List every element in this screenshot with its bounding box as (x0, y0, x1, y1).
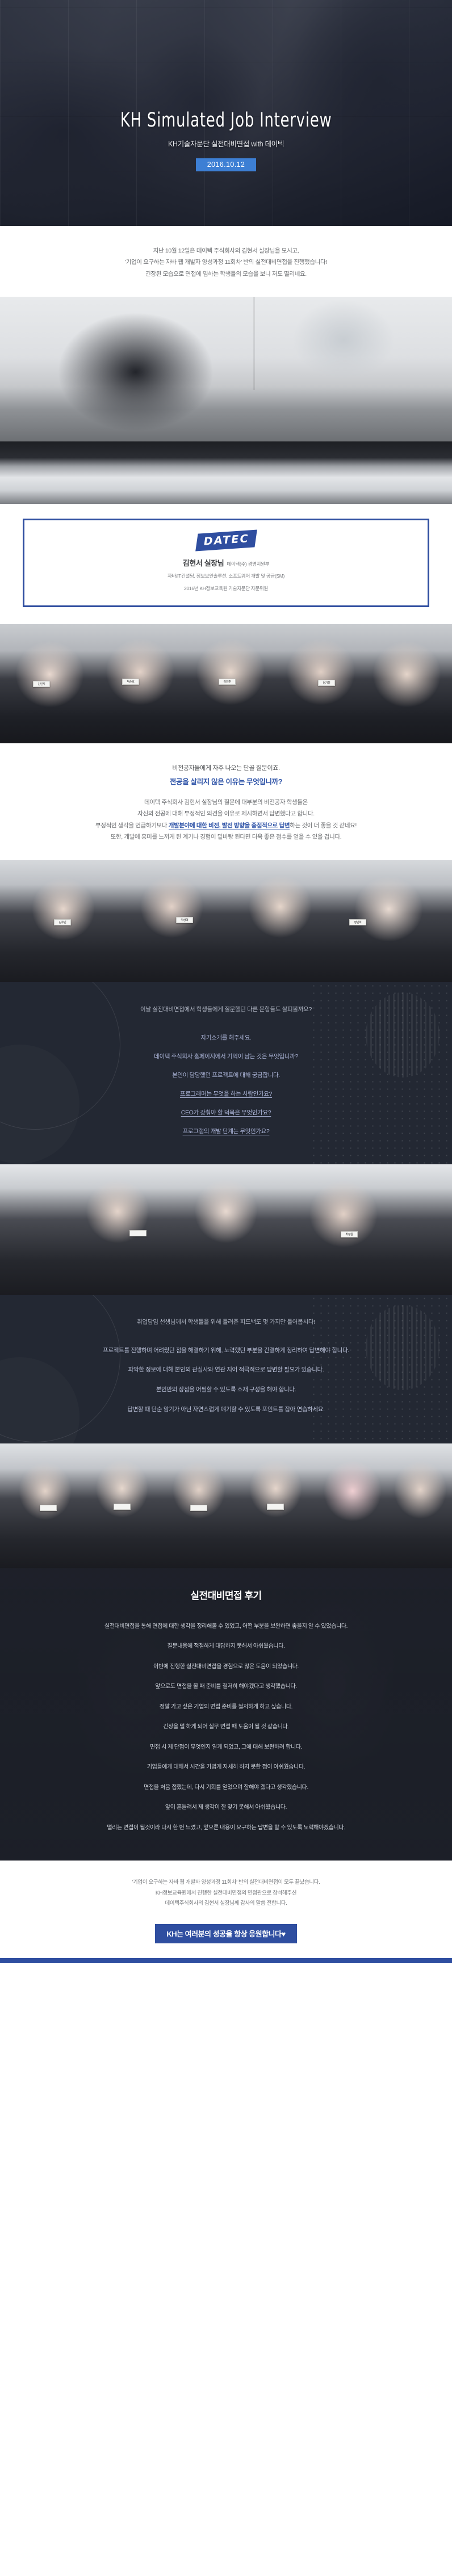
feedback-list: 프로젝트를 진행하며 어려웠던 점을 해결하기 위해, 노력했던 부분을 간결하… (19, 1341, 433, 1420)
review-item: 떨리는 면접이 될것이라 다시 한 번 느꼈고, 앞으론 내용이 요구하는 답변… (19, 1818, 433, 1838)
major-question-block: 비전공자들에게 자주 나오는 단골 질문이죠. 전공을 살리지 않은 이유는 무… (0, 743, 452, 860)
intro-line-1: 지난 10월 12일은 데이텍 주식회사의 김현서 실장님을 모시고, (23, 245, 429, 256)
question-item: 프로그램의 개발 단계는 무엇인가요? (19, 1122, 433, 1140)
company-business-desc: 자바/IT컨설팅, 정보보안솔루션, 소프트웨어 개발 및 공급(SM) (34, 572, 418, 580)
name-tag (267, 1504, 284, 1510)
review-item: 면접을 처음 접했는데, 다시 기회를 얻었으며 잘해야 겠다고 생각했습니다. (19, 1778, 433, 1798)
intro-line-3: 긴장된 모습으로 면접에 임하는 학생들의 모습을 보니 저도 떨리네요. (23, 268, 429, 280)
photo-student-group-3: 최정원 (0, 1164, 452, 1295)
name-tag: 박준호 (122, 679, 139, 685)
review-item: 이번에 진행한 실전대비면접을 경험으로 많은 도움이 되었습니다. (19, 1657, 433, 1677)
questions-heading: 이날 실전대비면접에서 학생들에게 질문했던 다른 문항들도 살펴볼까요? (19, 1005, 433, 1013)
interviewer-name-text: 김현서 실장님 (183, 559, 224, 567)
question-item: 데이텍 주식회사 홈페이지에서 기억이 남는 것은 무엇입니까? (19, 1047, 433, 1066)
intro-line-2: '기업이 요구하는 자바 웹 개발자 양성과정 11회차' 반의 실전대비면접을… (23, 256, 429, 268)
major-body-3-post: 하는 것이 더 좋을 것 같네요! (290, 822, 357, 829)
footer-cta-banner: KH는 여러분의 성공을 항상 응원합니다♥ (155, 1924, 296, 1943)
page-title: KH Simulated Job Interview (120, 109, 332, 132)
questions-section: 이날 실전대비면접에서 학생들에게 질문했던 다른 문항들도 살펴볼까요? 자기… (0, 982, 452, 1164)
footer-line-1: '기업이 요구하는 자바 웹 개발자 양성과정 11회차' 반의 실전대비면접이… (19, 1878, 433, 1888)
interview-event-page: KH Simulated Job Interview KH기술자문단 실전대비면… (0, 0, 452, 1963)
event-date-badge: 2016.10.12 (196, 158, 257, 171)
review-section: 실전대비면접 후기 실전대비면접을 통해 면접에 대한 생각을 정리해볼 수 있… (0, 1568, 452, 1861)
photo-student-group-1: 김민지 박준호 이강훈 정기철 (0, 624, 452, 743)
photo-student-group-2: 김수빈 박상혁 정민희 (0, 860, 452, 982)
name-tag: 박상혁 (176, 917, 193, 923)
datec-logo: DATEC (195, 530, 257, 552)
name-tag: 정민희 (349, 919, 366, 925)
name-tag (190, 1505, 207, 1511)
major-body-3-highlight: 개발분야에 대한 비전, 발전 방향을 중점적으로 답변 (169, 822, 290, 830)
review-item: 질문내용에 적절하게 대답하지 못해서 아쉬웠습니다. (19, 1636, 433, 1657)
major-body-3: 부정적인 생각을 언급하기보다 개발분야에 대한 비전, 발전 방향을 중점적으… (23, 820, 429, 831)
footer-section: '기업이 요구하는 자바 웹 개발자 양성과정 11회차' 반의 실전대비면접이… (0, 1861, 452, 1958)
name-tag: 김수빈 (54, 919, 71, 925)
name-tag (114, 1504, 131, 1510)
name-tag (40, 1505, 57, 1511)
feedback-heading: 취업담임 선생님께서 학생들을 위해 들려준 피드백도 몇 가지만 들어봅시다! (19, 1318, 433, 1326)
feedback-item: 프로젝트를 진행하며 어려웠던 점을 해결하기 위해, 노력했던 부분을 간결하… (19, 1341, 433, 1361)
hero-subtitle: KH기술자문단 실전대비면접 with 데이텍 (168, 138, 284, 149)
major-body-2: 자신의 전공에 대해 부정적인 의견을 이유로 제시하면서 답변했다고 합니다. (23, 808, 429, 819)
review-item: 실전대비면접을 통해 면접에 대한 생각을 정리해볼 수 있었고, 어떤 부분을… (19, 1617, 433, 1637)
profile-card-section: DATEC 김현서 실장님데이텍(주) 경영지원부 자바/IT컨설팅, 정보보안… (0, 504, 452, 624)
review-item: 앞이 흔들려서 제 생각이 잘 맞기 못해서 아쉬웠습니다. (19, 1798, 433, 1818)
review-title: 실전대비면접 후기 (19, 1588, 433, 1602)
major-body-3-pre: 부정적인 생각을 언급하기보다 (95, 822, 169, 829)
interviewer-department: 데이텍(주) 경영지원부 (227, 561, 269, 567)
feedback-item: 파악한 정보에 대해 본인의 관심사와 연관 지어 적극적으로 답변할 필요가 … (19, 1360, 433, 1380)
photo-student-group-4 (0, 1443, 452, 1568)
feedback-item: 본인만의 장점을 어필할 수 있도록 소재 구성을 해야 합니다. (19, 1380, 433, 1400)
name-tag (129, 1230, 147, 1236)
question-item: 본인이 담당했던 프로젝트에 대해 궁금합니다. (19, 1066, 433, 1084)
advisor-role-desc: 2016년 KH정보교육원 기술자문단 자문위원 (34, 584, 418, 593)
major-body-4: 또한, 개발에 흥미를 느끼게 된 계기나 경험이 밑바탕 된다면 더욱 좋은 … (23, 831, 429, 843)
major-question-intro: 비전공자들에게 자주 나오는 단골 질문이죠. (172, 765, 279, 772)
review-item: 기업들에게 대해서 시간을 가볍게 자세히 하지 못한 점이 아쉬웠습니다. (19, 1757, 433, 1778)
hero-banner: KH Simulated Job Interview KH기술자문단 실전대비면… (0, 0, 452, 226)
question-item: 프로그래머는 무엇을 하는 사람인가요? (19, 1084, 433, 1103)
review-item: 정말 가고 싶은 기업의 면접 준비를 철저하게 하고 싶습니다. (19, 1697, 433, 1718)
name-tag: 정기철 (318, 680, 335, 686)
review-item: 앞으로도 면접을 볼 때 준비를 철저히 해야겠다고 생각했습니다. (19, 1677, 433, 1697)
footer-line-3: 데이텍주식회사의 김현서 실장님께 감사의 말씀 전합니다. (19, 1899, 433, 1909)
footer-line-2: KH정보교육원에서 진행한 실전대비면접의 면접관으로 참석해주신 (19, 1888, 433, 1899)
feedback-section: 취업담임 선생님께서 학생들을 위해 들려준 피드백도 몇 가지만 들어봅시다!… (0, 1295, 452, 1443)
name-tag: 이강훈 (219, 679, 236, 685)
interviewer-name: 김현서 실장님데이텍(주) 경영지원부 (34, 557, 418, 568)
question-item: CEO가 갖춰야 할 덕목은 무엇인가요? (19, 1103, 433, 1122)
photo-interview-room (0, 297, 452, 441)
major-question-lead: 비전공자들에게 자주 나오는 단골 질문이죠. 전공을 살리지 않은 이유는 무… (23, 763, 429, 789)
major-question-highlight: 전공을 살리지 않은 이유는 무엇입니까? (23, 776, 429, 789)
feedback-item: 답변할 때 단순 암기가 아닌 자연스럽게 얘기할 수 있도록 포인트를 잡아 … (19, 1400, 433, 1420)
footer-color-strip (0, 1958, 452, 1963)
question-item: 자기소개를 해주세요. (19, 1028, 433, 1047)
questions-list: 자기소개를 해주세요. 데이텍 주식회사 홈페이지에서 기억이 남는 것은 무엇… (19, 1028, 433, 1140)
name-tag: 김민지 (33, 681, 50, 687)
datec-profile-card: DATEC 김현서 실장님데이텍(주) 경영지원부 자바/IT컨설팅, 정보보안… (23, 519, 429, 607)
photo-interviewer-desk (0, 441, 452, 504)
review-item: 긴장을 덜 하게 되어 실무 면접 때 도움이 될 것 같습니다. (19, 1717, 433, 1737)
major-body-1: 데이텍 주식회사 김현서 실장님의 질문에 대부분의 비전공자 학생들은 (23, 797, 429, 808)
name-tag: 최정원 (341, 1231, 358, 1238)
intro-text-block: 지난 10월 12일은 데이텍 주식회사의 김현서 실장님을 모시고, '기업이… (0, 226, 452, 297)
review-item: 면접 시 제 단점이 무엇인지 알게 되었고, 그에 대해 보완하려 합니다. (19, 1737, 433, 1758)
